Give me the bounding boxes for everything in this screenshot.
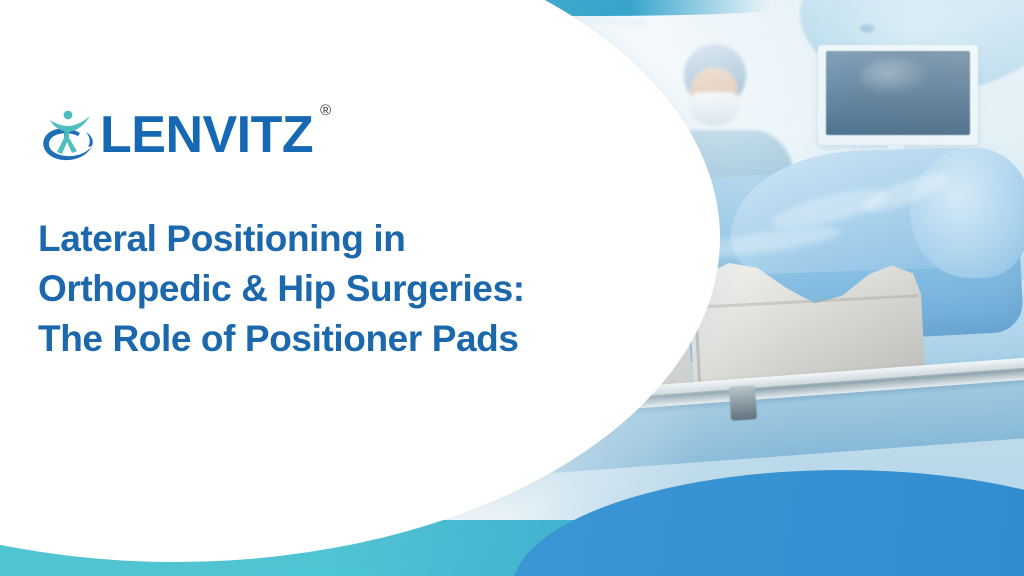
lenvitz-person-swoosh-logo-icon — [38, 106, 104, 168]
page-title-line-1: Lateral Positioning in — [38, 214, 618, 264]
article-hero-banner: LENVITZ ® Lateral Positioning in Orthope… — [0, 0, 1024, 576]
banner-content: LENVITZ ® Lateral Positioning in Orthope… — [0, 0, 1024, 576]
lenvitz-wordmark: LENVITZ — [100, 104, 313, 166]
registered-trademark-icon: ® — [320, 102, 331, 119]
page-title-line-3: The Role of Positioner Pads — [38, 314, 618, 364]
page-title: Lateral Positioning in Orthopedic & Hip … — [38, 214, 618, 364]
page-title-line-2: Orthopedic & Hip Surgeries: — [38, 264, 618, 314]
lenvitz-logo[interactable]: LENVITZ ® — [38, 104, 313, 168]
